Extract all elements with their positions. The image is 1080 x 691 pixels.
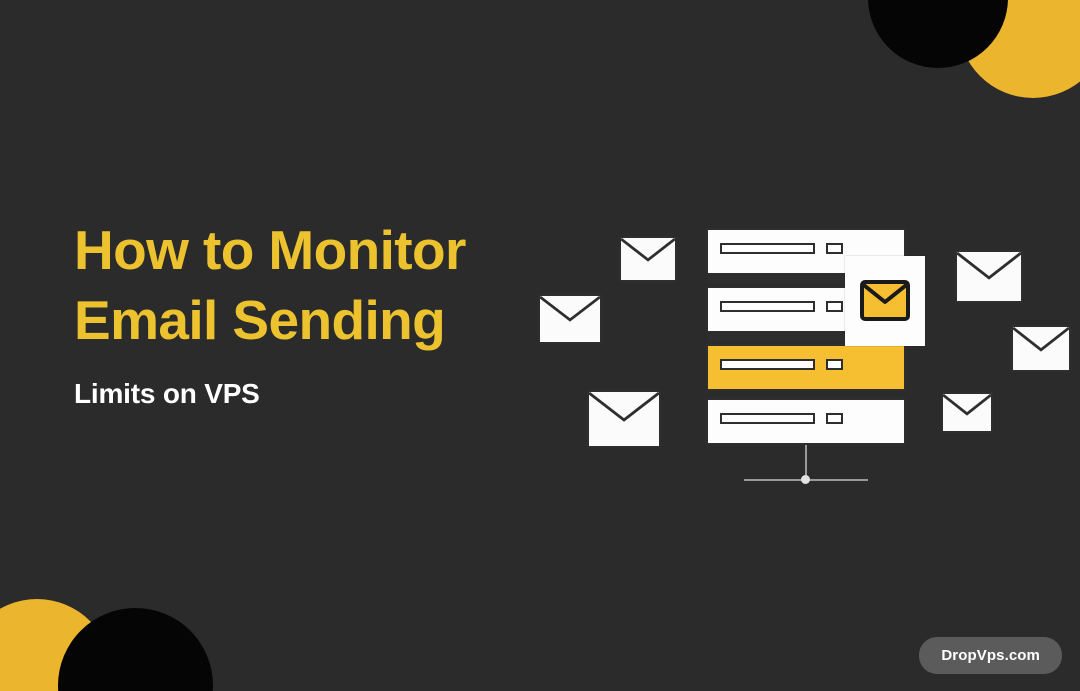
rack-stand-joint-dot xyxy=(801,475,810,484)
server-row-label-bar xyxy=(720,243,815,254)
envelope-flap-icon xyxy=(957,252,1021,301)
server-row-led xyxy=(826,243,843,254)
envelope-flap-icon xyxy=(540,296,600,342)
server-row-led xyxy=(826,301,843,312)
server-row-led xyxy=(826,413,843,424)
title-line-2: Email Sending xyxy=(74,286,544,356)
envelope-flap-icon xyxy=(1013,327,1069,370)
envelope-icon xyxy=(587,390,661,448)
envelope-flap-icon xyxy=(589,392,659,446)
envelope-icon xyxy=(955,250,1023,303)
subtitle: Limits on VPS xyxy=(74,378,544,410)
headline-block: How to Monitor Email Sending Limits on V… xyxy=(74,216,544,410)
server-row-highlighted xyxy=(706,344,906,391)
mail-notification-card xyxy=(845,256,925,346)
title-line-1: How to Monitor xyxy=(74,216,544,286)
envelope-flap-icon xyxy=(943,394,991,431)
envelope-icon xyxy=(941,392,993,433)
server-row-label-bar xyxy=(720,359,815,370)
envelope-icon xyxy=(619,236,677,282)
server-row-label-bar xyxy=(720,301,815,312)
mail-envelope-icon xyxy=(860,280,910,321)
brand-badge[interactable]: DropVps.com xyxy=(919,637,1062,674)
server-row xyxy=(706,398,906,445)
envelope-flap-icon xyxy=(621,238,675,280)
poster-canvas: How to Monitor Email Sending Limits on V… xyxy=(0,0,1080,691)
server-row-label-bar xyxy=(720,413,815,424)
envelope-icon xyxy=(1011,325,1071,372)
server-row-led xyxy=(826,359,843,370)
envelope-icon xyxy=(538,294,602,344)
